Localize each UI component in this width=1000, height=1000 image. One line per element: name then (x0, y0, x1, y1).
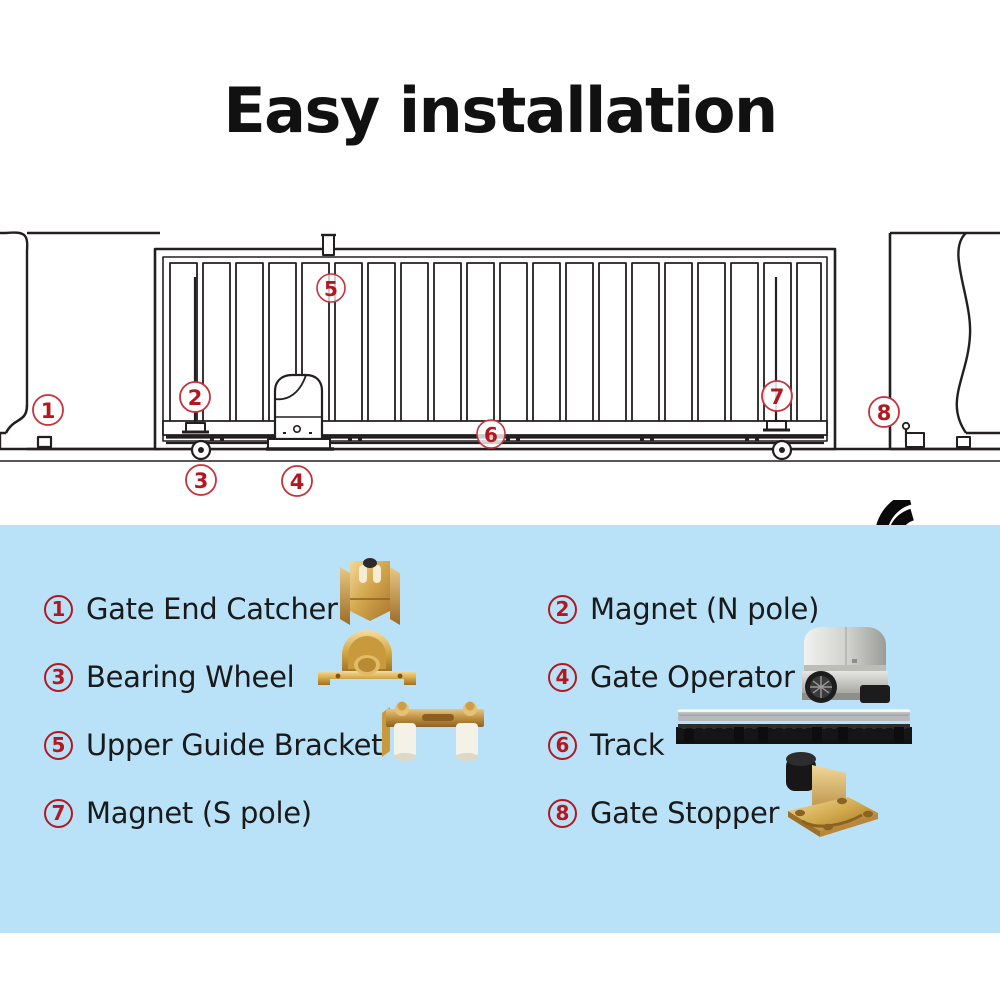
gate-end-catcher-thumb (326, 549, 412, 631)
page-title: Easy installation (0, 80, 1000, 142)
diagram-marker-8: 8 (869, 397, 899, 427)
diagram-marker-1-label: 1 (41, 399, 56, 423)
legend-item-magnet-n-pole[interactable]: 2 Magnet (N pole) (548, 575, 998, 643)
legend-item-label: Gate Operator (590, 660, 795, 694)
diagram-marker-5-label: 5 (324, 277, 338, 301)
legend-number-badge: 2 (548, 595, 577, 624)
legend-item-upper-guide-bracket[interactable]: 5 Upper Guide Bracket (44, 711, 514, 779)
legend-number-badge: 3 (44, 663, 73, 692)
diagram-marker-3: 3 (186, 465, 216, 495)
legend-item-gate-operator[interactable]: 4 Gate Operator (548, 643, 998, 711)
legend-item-magnet-s-pole[interactable]: 7 Magnet (S pole) (44, 779, 514, 847)
diagram-marker-4-label: 4 (290, 470, 305, 494)
bearing-wheel-thumb (312, 621, 422, 691)
legend-number-badge: 6 (548, 731, 577, 760)
legend-item-label: Magnet (N pole) (590, 592, 819, 626)
legend-item-label: Gate Stopper (590, 796, 779, 830)
legend-panel: 1 Gate End Catcher (0, 525, 1000, 933)
diagram-marker-5: 5 (317, 274, 345, 302)
installation-diagram: 1 2 3 4 5 6 7 8 (0, 205, 1000, 515)
diagram-marker-8-label: 8 (877, 401, 892, 425)
diagram-marker-1: 1 (33, 395, 63, 425)
diagram-marker-2-label: 2 (188, 386, 203, 410)
diagram-marker-7: 7 (762, 381, 792, 411)
legend-item-label: Upper Guide Bracket (86, 728, 382, 762)
diagram-marker-4: 4 (282, 466, 312, 496)
legend-item-label: Magnet (S pole) (86, 796, 312, 830)
diagram-marker-2: 2 (180, 382, 210, 412)
legend-item-gate-end-catcher[interactable]: 1 Gate End Catcher (44, 575, 514, 643)
legend-column-left: 1 Gate End Catcher (44, 575, 514, 847)
legend-number-badge: 7 (44, 799, 73, 828)
legend-column-right: 2 Magnet (N pole) 4 Gate Operator (548, 575, 998, 847)
legend-number-badge: 1 (44, 595, 73, 624)
gate-stopper-thumb (770, 735, 886, 851)
gate-operator-thumb (788, 619, 900, 711)
diagram-marker-3-label: 3 (194, 469, 209, 493)
legend-item-label: Gate End Catcher (86, 592, 338, 626)
upper-guide-bracket-thumb (372, 693, 492, 765)
legend-item-label: Track (590, 728, 664, 762)
diagram-marker-7-label: 7 (770, 385, 785, 409)
legend-number-badge: 5 (44, 731, 73, 760)
legend-item-label: Bearing Wheel (86, 660, 294, 694)
diagram-marker-6-label: 6 (484, 423, 498, 447)
legend-item-gate-stopper[interactable]: 8 Gate Stopper (548, 779, 998, 847)
legend-number-badge: 4 (548, 663, 577, 692)
legend-number-badge: 8 (548, 799, 577, 828)
diagram-marker-6: 6 (477, 420, 505, 448)
